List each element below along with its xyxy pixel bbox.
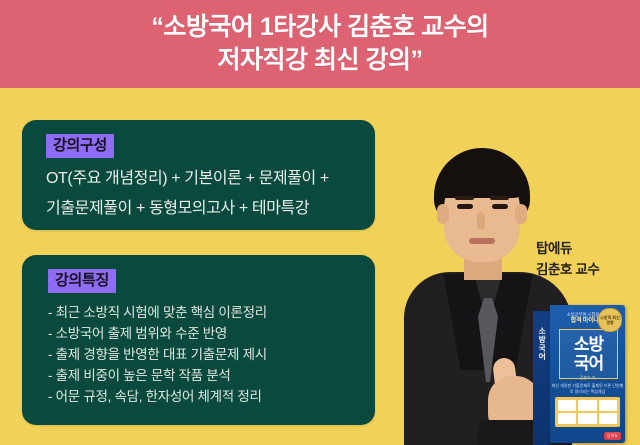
eyebrow-right: [490, 196, 509, 200]
book-front-cover: 소방공무원 시험을 위한 합격 마이나스 소방 국어 김춘호 저 최신 개정판 …: [550, 305, 625, 443]
book-diagram-cell: [558, 413, 576, 424]
textbook-cover: 소방국어 소방공무원 시험을 위한 합격 마이나스 소방 국어 김춘호 저 최신…: [533, 305, 625, 443]
curriculum-line-2: 기출문제풀이 + 동형모의고사 + 테마특강: [46, 194, 375, 224]
book-subtitle: 최신 개정판 기출문제로 출제된 이론 단원별로 정리되는 핵심개념: [550, 383, 625, 395]
book-diagram-cell: [558, 400, 576, 411]
features-box: 강의특징 - 최근 소방직 시험에 맞춘 핵심 이론정리 - 소방국어 출제 범…: [22, 255, 375, 425]
feature-bullet-1: - 최근 소방직 시험에 맞춘 핵심 이론정리: [48, 302, 375, 323]
banner-title-line-1: “소방국어 1타강사 김춘호 교수의: [151, 11, 488, 44]
book-spine-title: 소방국어: [537, 327, 546, 361]
instructor-name: 김춘호 교수: [536, 259, 599, 280]
nose: [477, 212, 485, 230]
book-title-line-2: 국어: [574, 354, 603, 373]
hair-fringe: [437, 164, 527, 198]
feature-bullet-4: - 출제 비중이 높은 문학 작품 분석: [48, 365, 375, 386]
instructor-caption: 탑에듀 김춘호 교수: [536, 238, 599, 280]
banner-title-line-2: 저자직강 최신 강의”: [218, 44, 423, 77]
header-banner: “소방국어 1타강사 김춘호 교수의 저자직강 최신 강의”: [0, 0, 640, 88]
book-title-line-1: 소방: [574, 335, 603, 354]
curriculum-box: 강의구성 OT(주요 개념정리) + 기본이론 + 문제풀이 + 기출문제풀이 …: [22, 120, 375, 230]
features-tag-wrap: 강의특징: [48, 269, 375, 293]
book-diagram-cell: [578, 413, 596, 424]
curriculum-tag-wrap: 강의구성: [46, 134, 375, 158]
feature-bullet-5: - 어문 규정, 속담, 한자성어 체계적 정리: [48, 386, 375, 407]
eye-right: [492, 204, 508, 209]
book-diagram-cell: [599, 400, 617, 411]
book-spine: 소방국어: [533, 311, 550, 445]
book-diagram-cell: [578, 400, 596, 411]
book-diagram-cell: [599, 413, 617, 424]
features-tag-label: 강의특징: [48, 269, 116, 293]
curriculum-line-1: OT(주요 개념정리) + 기본이론 + 문제풀이 +: [46, 164, 375, 194]
mouth: [469, 238, 495, 244]
book-author: 김춘호 저: [550, 375, 625, 381]
eyebrow-left: [455, 196, 474, 200]
ear-right: [515, 204, 527, 224]
ear-left: [437, 204, 449, 224]
book-title-frame: 소방 국어: [559, 329, 618, 379]
book-diagram: [555, 397, 620, 427]
book-badge: 소방직 최신경향: [598, 308, 622, 332]
academy-name: 탑에듀: [536, 238, 599, 259]
book-publisher-logo: 탑에듀: [604, 432, 621, 440]
feature-bullet-3: - 출제 경향을 반영한 대표 기출문제 제시: [48, 344, 375, 365]
curriculum-tag-label: 강의구성: [46, 134, 114, 158]
feature-bullet-2: - 소방국어 출제 범위와 수준 반영: [48, 323, 375, 344]
advertisement-banner: “소방국어 1타강사 김춘호 교수의 저자직강 최신 강의” 강의구성: [0, 0, 640, 445]
eye-left: [457, 204, 473, 209]
